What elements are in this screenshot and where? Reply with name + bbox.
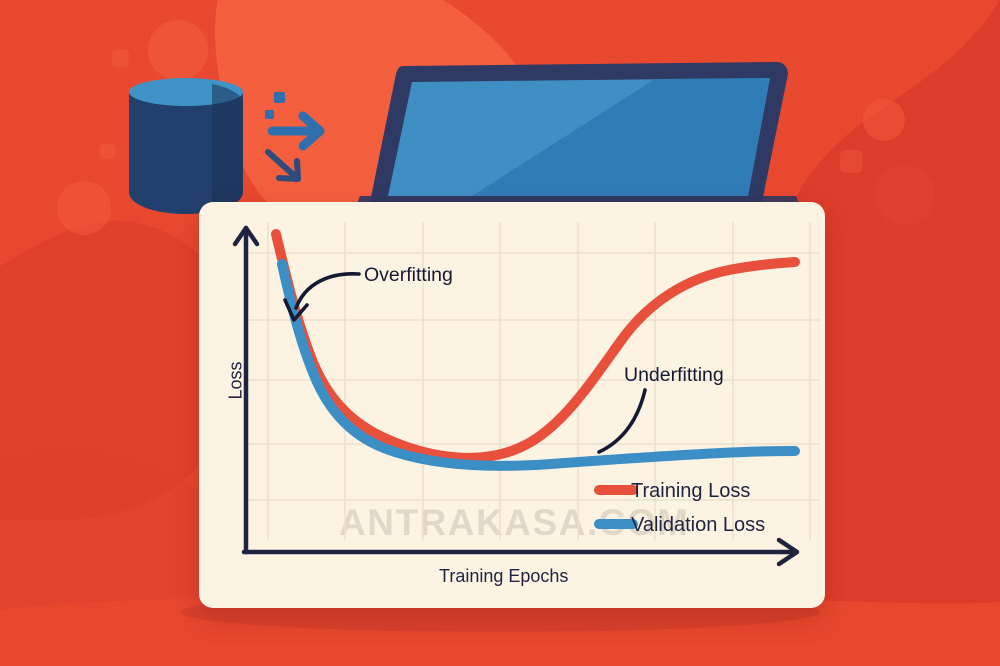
- legend-label-training-loss: Training Loss: [631, 480, 750, 503]
- underfitting-annotation-label: Underfitting: [624, 364, 724, 387]
- series-training-loss: [276, 234, 795, 458]
- y-axis-label: Loss: [226, 336, 247, 426]
- underfitting-arrow-icon: [599, 390, 645, 452]
- x-axis-label: Training Epochs: [439, 566, 568, 587]
- illustration-canvas: ANTRAKASA.COM: [0, 0, 1000, 666]
- chart-card: ANTRAKASA.COM: [199, 202, 825, 608]
- legend-label-validation-loss: Validation Loss: [631, 514, 765, 537]
- overfitting-annotation-label: Overfitting: [364, 264, 453, 287]
- legend: [599, 490, 633, 524]
- loss-curve-chart: [199, 202, 825, 608]
